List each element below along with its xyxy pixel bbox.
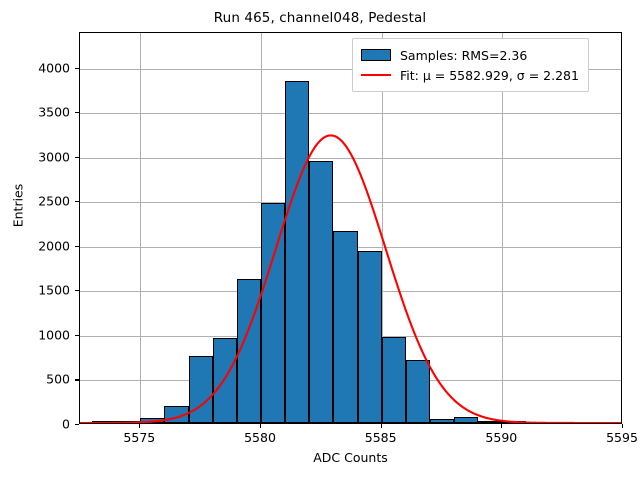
- y-tick-mark: [75, 246, 79, 247]
- histogram-bar: [309, 161, 333, 423]
- y-tick-label: 4000: [0, 60, 70, 75]
- histogram-bar: [140, 418, 164, 423]
- legend-entry-samples: Samples: RMS=2.36: [361, 45, 579, 65]
- gridline-horizontal: [80, 202, 621, 203]
- x-tick-label: 5595: [606, 430, 638, 445]
- legend-patch-icon: [361, 49, 391, 61]
- y-tick-mark: [75, 112, 79, 113]
- histogram-bar: [430, 419, 454, 423]
- y-tick-mark: [75, 290, 79, 291]
- x-tick-label: 5580: [244, 430, 276, 445]
- x-tick-mark: [139, 424, 140, 428]
- legend-line-icon: [361, 74, 391, 76]
- y-tick-mark: [75, 335, 79, 336]
- y-tick-mark: [75, 424, 79, 425]
- histogram-bar: [478, 421, 502, 423]
- histogram-bar: [261, 203, 285, 423]
- histogram-bar: [358, 251, 382, 423]
- gridline-horizontal: [80, 113, 621, 114]
- y-tick-mark: [75, 201, 79, 202]
- histogram-bar: [237, 279, 261, 423]
- histogram-bar: [454, 417, 478, 423]
- y-tick-label: 0: [0, 417, 70, 432]
- y-tick-label: 500: [0, 372, 70, 387]
- histogram-bar: [164, 406, 188, 423]
- x-tick-label: 5590: [485, 430, 517, 445]
- histogram-bar: [116, 421, 140, 423]
- gridline-horizontal: [80, 158, 621, 159]
- histogram-bar: [285, 81, 309, 423]
- x-tick-mark: [622, 424, 623, 428]
- x-tick-mark: [501, 424, 502, 428]
- y-tick-mark: [75, 379, 79, 380]
- histogram-bar: [333, 231, 357, 423]
- y-axis-label: Entries: [11, 116, 26, 296]
- y-tick-mark: [75, 157, 79, 158]
- histogram-bar: [213, 338, 237, 423]
- chart-legend: Samples: RMS=2.36 Fit: μ = 5582.929, σ =…: [352, 38, 589, 92]
- legend-label-fit: Fit: μ = 5582.929, σ = 2.281: [400, 68, 579, 83]
- x-tick-mark: [260, 424, 261, 428]
- x-tick-label: 5585: [365, 430, 397, 445]
- legend-label-samples: Samples: RMS=2.36: [400, 48, 527, 63]
- chart-figure: Run 465, channel048, Pedestal 5575558055…: [0, 0, 640, 480]
- histogram-bar: [406, 360, 430, 423]
- histogram-bar: [502, 421, 526, 423]
- histogram-bar: [92, 421, 116, 423]
- x-tick-label: 5575: [123, 430, 155, 445]
- y-tick-mark: [75, 68, 79, 69]
- gridline-vertical: [140, 33, 141, 423]
- x-axis-label: ADC Counts: [79, 450, 622, 465]
- page-title: Run 465, channel048, Pedestal: [0, 10, 640, 26]
- histogram-bar: [189, 356, 213, 423]
- legend-entry-fit: Fit: μ = 5582.929, σ = 2.281: [361, 65, 579, 85]
- x-tick-mark: [381, 424, 382, 428]
- histogram-bar: [382, 337, 406, 423]
- y-tick-label: 1000: [0, 327, 70, 342]
